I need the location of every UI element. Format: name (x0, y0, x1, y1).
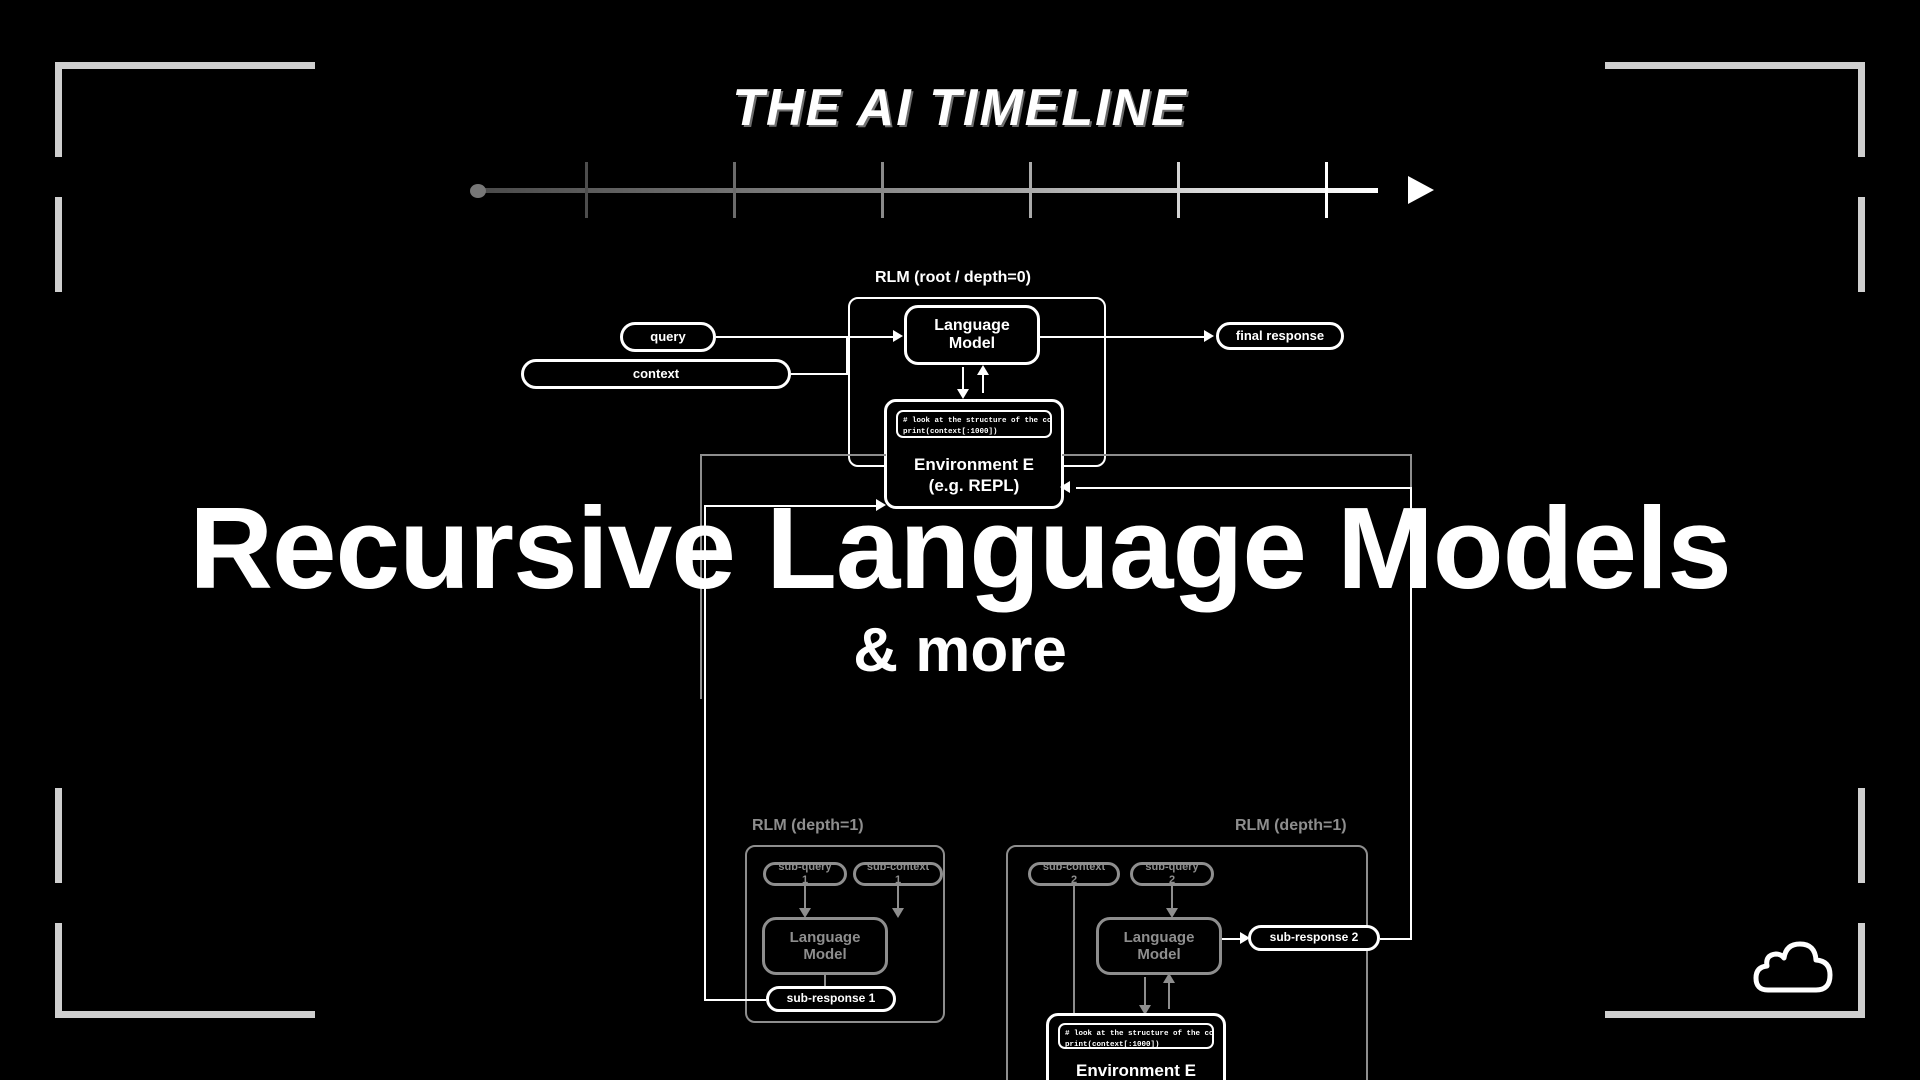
edge-final-arrow (1204, 330, 1214, 342)
sub-context-1-node[interactable]: sub-context 1 (853, 862, 943, 886)
edge-context-v (846, 337, 848, 375)
timeline-line (478, 188, 1378, 193)
sub-left-group-label: RLM (depth=1) (752, 817, 864, 835)
sub-right-code-line1: # look at the structure of the context (1065, 1030, 1214, 1038)
sub-query-2-node[interactable]: sub-query 2 (1130, 862, 1214, 886)
edge-subc1-arrow (892, 908, 904, 918)
sub-left-lm-line2: Model (803, 946, 846, 963)
sub-response-2-node[interactable]: sub-response 2 (1248, 925, 1380, 951)
context-node[interactable]: context (521, 359, 791, 389)
timeline-start-dot (470, 184, 486, 198)
edge-subresp1-return-h (704, 999, 766, 1001)
sub-right-code-line2: print(context[:1000]) (1065, 1041, 1160, 1049)
sub-context-2-node[interactable]: sub-context 2 (1028, 862, 1120, 886)
root-env-title-line1: Environment E (887, 454, 1061, 475)
sub-right-env-code-block: # look at the structure of the contextpr… (1058, 1023, 1214, 1049)
query-node[interactable]: query (620, 322, 716, 352)
timeline-arrowhead (1408, 176, 1434, 204)
root-lm-label-line1: Language (934, 317, 1010, 335)
subtitle: & more (0, 620, 1920, 682)
timeline-axis (470, 162, 1430, 222)
edge-context-h (791, 373, 848, 375)
timeline-tick-1 (733, 162, 736, 218)
rail-root-right-h (1062, 454, 1412, 456)
edge-lm-env-down-arrow (957, 389, 969, 399)
edge-subresp2-return-h (1380, 938, 1412, 940)
edge-subright-env-lm-up-arrow (1163, 973, 1175, 983)
edge-query-arrow (893, 330, 903, 342)
timeline-tick-0 (585, 162, 588, 218)
sub-left-language-model-node[interactable]: Language Model (762, 917, 888, 975)
timeline-tick-2 (881, 162, 884, 218)
sub-left-lm-line1: Language (790, 929, 861, 946)
root-lm-label-line2: Model (949, 335, 995, 353)
sub-response-1-node[interactable]: sub-response 1 (766, 986, 896, 1012)
slide-canvas: THE AI TIMELINE RLM (root / depth=0) que… (0, 0, 1920, 1080)
sub-right-environment-node[interactable]: # look at the structure of the contextpr… (1046, 1013, 1226, 1080)
timeline-tick-5 (1325, 162, 1328, 218)
timeline-tick-3 (1029, 162, 1032, 218)
rail-root-left-h (700, 454, 886, 456)
root-group-label: RLM (root / depth=0) (875, 269, 1031, 287)
sub-right-language-model-node[interactable]: Language Model (1096, 917, 1222, 975)
cloud-icon (1748, 934, 1838, 998)
root-env-code-block: # look at the structure of the contextpr… (896, 410, 1052, 438)
sub-right-group-label: RLM (depth=1) (1235, 817, 1347, 835)
sub-right-env-title-line1: Environment E (1049, 1060, 1223, 1080)
root-code-line2: print(context[:1000]) (903, 428, 998, 436)
final-response-node[interactable]: final response (1216, 322, 1344, 350)
root-language-model-node[interactable]: Language Model (904, 305, 1040, 365)
sub-right-lm-line2: Model (1137, 946, 1180, 963)
sub-right-env-title: Environment E (e.g. REPL) (1049, 1060, 1223, 1080)
edge-lm-to-final (1040, 336, 1208, 338)
edge-query-to-lm (716, 336, 894, 338)
page-title: THE AI TIMELINE (0, 78, 1920, 138)
root-code-line1: # look at the structure of the context (903, 417, 1052, 425)
timeline-tick-4 (1177, 162, 1180, 218)
sub-right-lm-line1: Language (1124, 929, 1195, 946)
main-headline: Recursive Language Models (0, 490, 1920, 606)
edge-env-lm-up-arrow (977, 365, 989, 375)
sub-query-1-node[interactable]: sub-query 1 (763, 862, 847, 886)
